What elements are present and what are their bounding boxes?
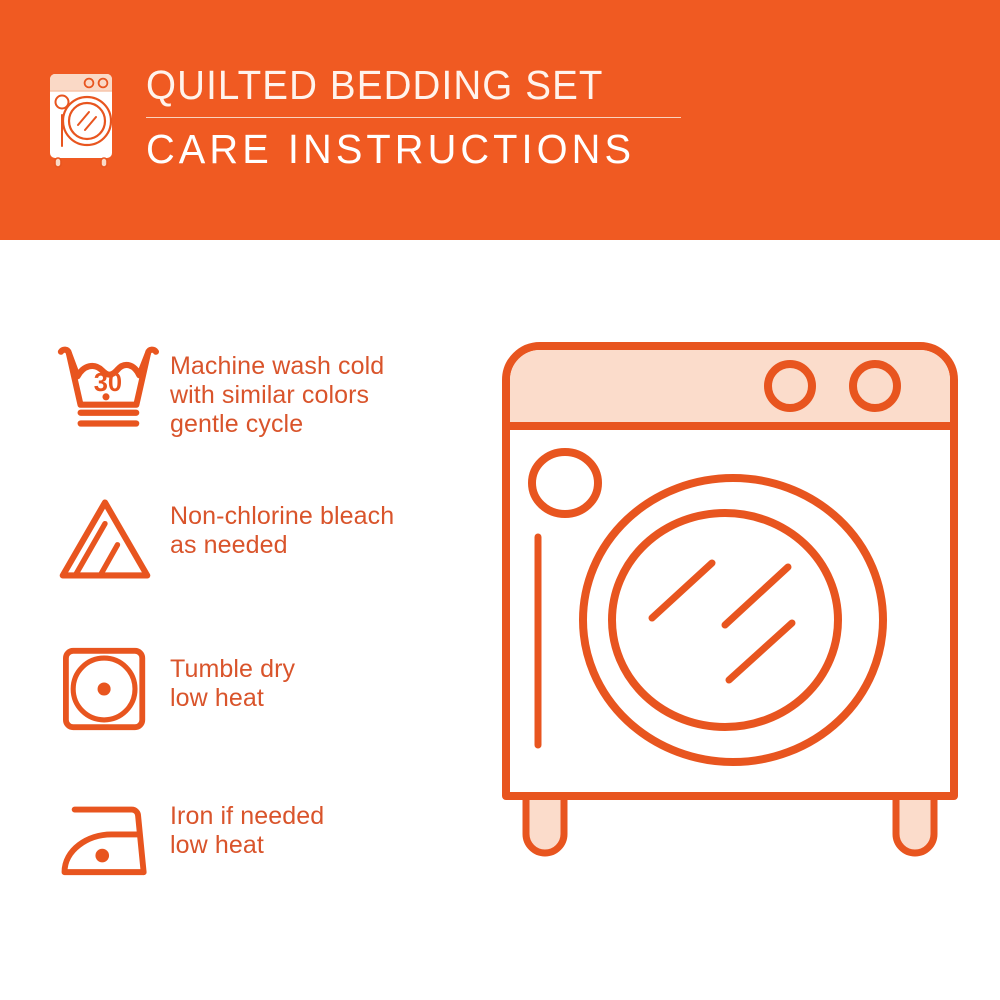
wash-tub-30-gentle-icon: 30: [40, 330, 170, 448]
header-content: QUILTED BEDDING SET CARE INSTRUCTIONS: [42, 62, 681, 173]
care-instructions-list: 30 Machine wash cold with similar colors…: [40, 330, 490, 930]
control-panel: [510, 350, 950, 426]
care-instruction-item: Non-chlorine bleach as needed: [40, 480, 490, 630]
header-text-block: QUILTED BEDDING SET CARE INSTRUCTIONS: [146, 62, 681, 173]
front-load-washing-machine-illustration: [480, 320, 980, 940]
care-instruction-item: Iron if needed low heat: [40, 780, 490, 930]
wash-temperature-value: 30: [94, 369, 122, 397]
care-instruction-label: Iron if needed low heat: [170, 780, 490, 860]
non-chlorine-bleach-triangle-icon: [40, 480, 170, 598]
page-subtitle: CARE INSTRUCTIONS: [146, 125, 665, 173]
washing-machine-icon: [42, 66, 124, 170]
header-banner: QUILTED BEDDING SET CARE INSTRUCTIONS: [0, 0, 1000, 240]
tumble-dry-low-heat-icon: [40, 630, 170, 748]
care-instruction-label: Machine wash cold with similar colors ge…: [170, 330, 490, 439]
page-title: QUILTED BEDDING SET: [146, 62, 649, 108]
title-divider: [146, 117, 681, 118]
care-instruction-item: Tumble dry low heat: [40, 630, 490, 780]
care-instruction-label: Tumble dry low heat: [170, 630, 490, 713]
care-instruction-label: Non-chlorine bleach as needed: [170, 480, 490, 560]
iron-low-heat-icon: [40, 780, 170, 898]
care-instruction-item: 30 Machine wash cold with similar colors…: [40, 330, 490, 480]
